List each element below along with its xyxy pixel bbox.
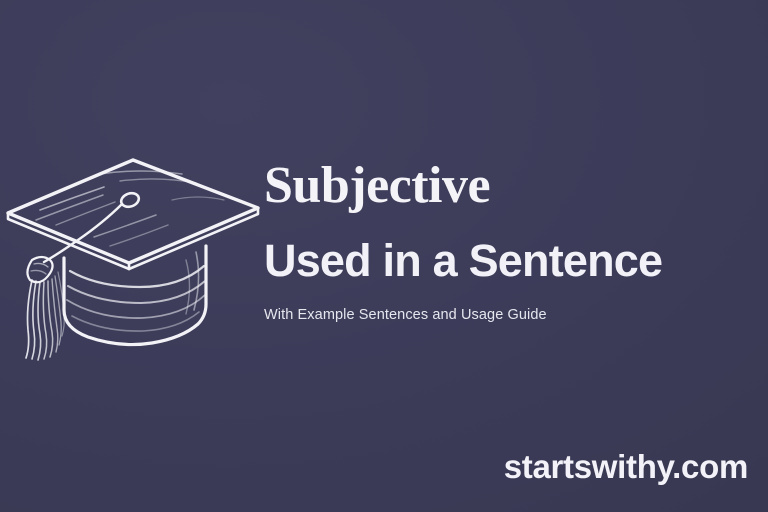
subtitle: With Example Sentences and Usage Guide	[264, 307, 754, 324]
poster-canvas: Subjective Used in a Sentence With Examp…	[0, 0, 768, 512]
headline-word: Subjective	[264, 160, 754, 212]
graduation-cap-illustration	[0, 140, 270, 370]
text-block: Subjective Used in a Sentence With Examp…	[264, 160, 754, 324]
graduation-cap-icon	[0, 140, 270, 370]
headline-phrase: Used in a Sentence	[264, 238, 754, 283]
brand-domain: startswithy.com	[504, 448, 748, 486]
